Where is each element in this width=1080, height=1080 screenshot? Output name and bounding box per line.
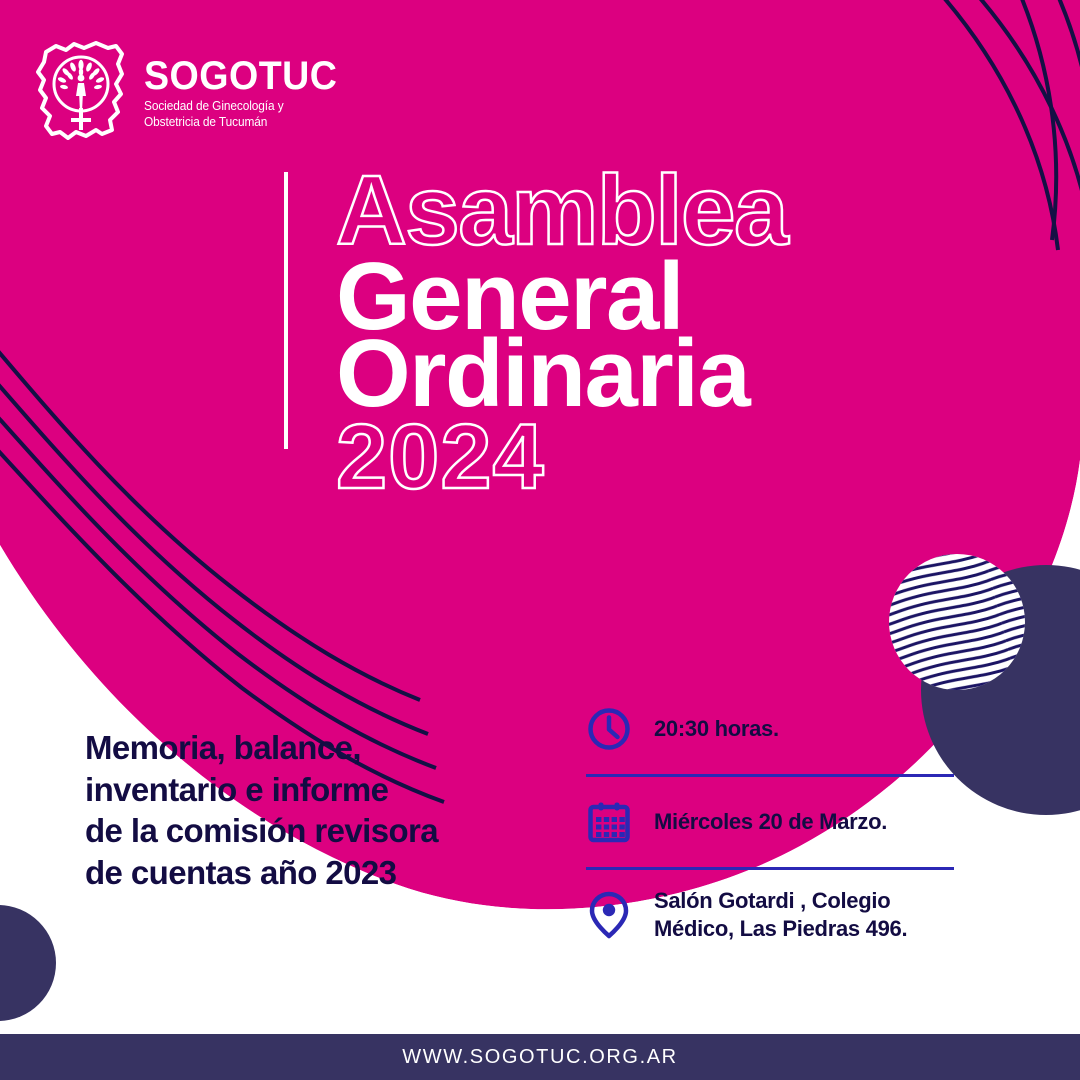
sogotuc-map-tree-emblem-icon xyxy=(26,34,138,146)
title-line-year: 2024 xyxy=(336,415,976,501)
event-detail-time: 20:30 horas. xyxy=(586,698,958,760)
clock-icon xyxy=(586,706,640,752)
agenda-description: Memoria, balance, inventario e informe d… xyxy=(85,727,555,893)
event-place-line-1: Salón Gotardi , Colegio xyxy=(654,888,890,913)
event-date-text: Miércoles 20 de Marzo. xyxy=(640,808,887,836)
event-detail-date: Miércoles 20 de Marzo. xyxy=(586,791,958,853)
title-block: Asamblea General Ordinaria 2024 xyxy=(336,165,976,500)
female-figure-icon xyxy=(76,75,86,108)
event-place-text: Salón Gotardi , Colegio Médico, Las Pied… xyxy=(640,887,907,943)
logo-subtitle-line-2: Obstetricia de Tucumán xyxy=(144,115,325,131)
agenda-description-line-2: inventario e informe xyxy=(85,769,555,811)
event-place-line-2: Médico, Las Piedras 496. xyxy=(654,916,907,941)
footer-bar: WWW.SOGOTUC.ORG.AR xyxy=(0,1034,1080,1080)
logo-subtitle-line-1: Sociedad de Ginecología y xyxy=(144,99,325,115)
logo-subtitle: Sociedad de Ginecología y Obstetricia de… xyxy=(144,99,334,130)
logo-name: SOGOTUC xyxy=(144,56,323,96)
agenda-description-line-3: de la comisión revisora xyxy=(85,810,555,852)
footer-website-url[interactable]: WWW.SOGOTUC.ORG.AR xyxy=(402,1046,677,1069)
event-details-panel: 20:30 horas. xyxy=(586,698,958,946)
title-vertical-rule xyxy=(284,172,288,449)
event-detail-place: Salón Gotardi , Colegio Médico, Las Pied… xyxy=(586,884,958,946)
poster-canvas: SOGOTUC Sociedad de Ginecología y Obstet… xyxy=(0,0,1080,1080)
calendar-icon xyxy=(586,799,640,845)
info-divider-1 xyxy=(586,774,954,777)
logo-wordmark: SOGOTUC Sociedad de Ginecología y Obstet… xyxy=(144,56,334,130)
logo: SOGOTUC Sociedad de Ginecología y Obstet… xyxy=(26,34,326,154)
event-time-text: 20:30 horas. xyxy=(640,715,779,743)
info-divider-2 xyxy=(586,867,954,870)
agenda-description-line-4: de cuentas año 2023 xyxy=(85,852,555,894)
location-pin-icon xyxy=(586,890,640,940)
agenda-description-line-1: Memoria, balance, xyxy=(85,727,555,769)
